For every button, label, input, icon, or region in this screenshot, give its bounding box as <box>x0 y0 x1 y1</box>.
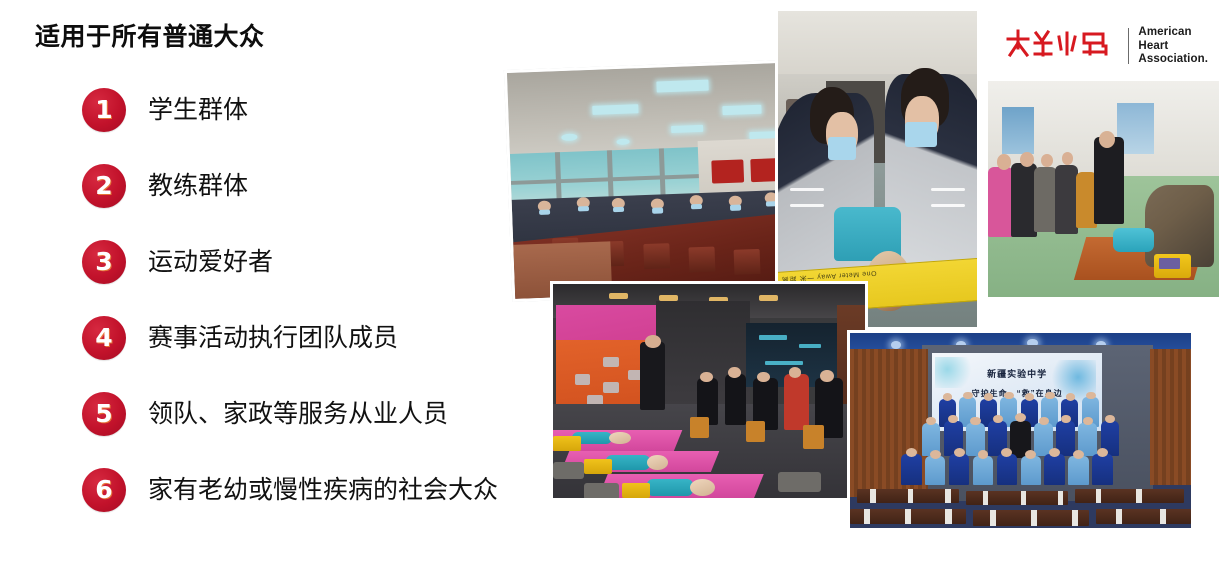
list-number-badge: 6 <box>82 468 126 512</box>
photo-community-aed <box>985 78 1222 300</box>
list-number-badge: 3 <box>82 240 126 284</box>
aha-word-line1: American <box>1138 26 1208 40</box>
aha-word-line2: Heart <box>1138 40 1208 54</box>
list-item: 3 运动爱好者 <box>82 240 512 284</box>
list-item: 1 学生群体 <box>82 88 512 132</box>
list-item-label: 领队、家政等服务从业人员 <box>148 400 448 429</box>
logo-divider <box>1128 28 1129 64</box>
aha-logo: American Heart Association. <box>997 22 1214 73</box>
list-number-badge: 2 <box>82 164 126 208</box>
aha-chinese-mark-icon <box>1005 26 1121 66</box>
list-number-badge: 5 <box>82 392 126 436</box>
list-item: 5 领队、家政等服务从业人员 <box>82 392 512 436</box>
page-title: 适用于所有普通大众 <box>35 22 265 52</box>
audience-list: 1 学生群体 2 教练群体 3 运动爱好者 4 赛事活动执行团队成员 5 领队、… <box>82 88 512 544</box>
aha-wordmark: American Heart Association. <box>1138 26 1208 67</box>
list-item: 6 家有老幼或慢性疾病的社会大众 <box>82 468 512 512</box>
photo-gym-class <box>550 281 868 501</box>
list-item-label: 运动爱好者 <box>148 248 273 277</box>
list-item-label: 教练群体 <box>148 172 248 201</box>
photo-school-group: 新疆实验中学 守护生命 “救”在身边 <box>847 330 1194 531</box>
list-item: 4 赛事活动执行团队成员 <box>82 316 512 360</box>
list-item-label: 学生群体 <box>148 96 248 125</box>
slide-root: 适用于所有普通大众 1 学生群体 2 教练群体 3 运动爱好者 4 赛事活动执行… <box>0 0 1222 564</box>
list-item-label: 赛事活动执行团队成员 <box>148 324 398 353</box>
list-number-badge: 1 <box>82 88 126 132</box>
stage-screen-title: 新疆实验中学 <box>932 367 1103 380</box>
list-item-label: 家有老幼或慢性疾病的社会大众 <box>148 476 498 505</box>
photo-collage: One Meter Away 一米 距离 <box>495 0 1222 564</box>
aha-word-line3: Association. <box>1138 53 1208 67</box>
stage-screen-subtitle: 守护生命 “救”在身边 <box>932 388 1103 399</box>
list-number-badge: 4 <box>82 316 126 360</box>
list-item: 2 教练群体 <box>82 164 512 208</box>
